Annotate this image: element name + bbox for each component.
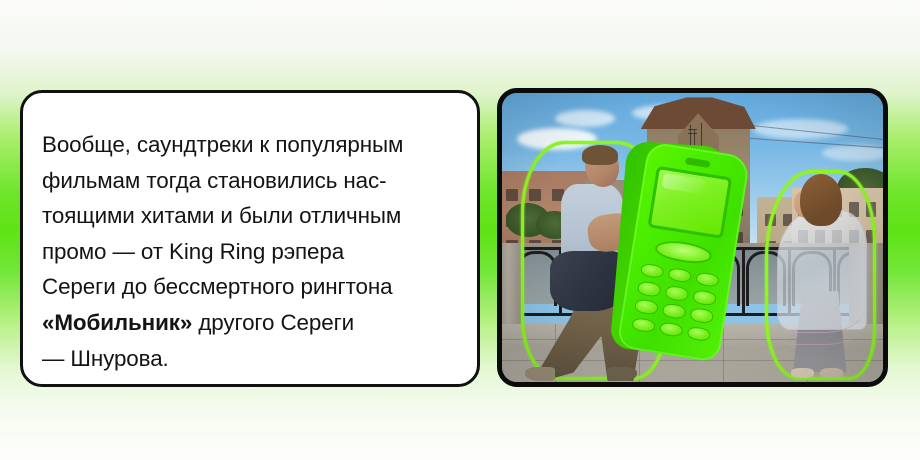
quote-text: Вообще, саундтреки к популярным фильмам … bbox=[42, 127, 465, 376]
quote-last-line: — Шнурова. bbox=[42, 346, 169, 371]
quote-text-after-bold: другого Сереги bbox=[192, 310, 354, 335]
phone-earpiece bbox=[684, 158, 709, 168]
screen-glare bbox=[661, 173, 705, 194]
phone-navigation-pad bbox=[653, 237, 713, 267]
photo-card bbox=[497, 88, 888, 387]
antenna-crossbar bbox=[688, 129, 697, 130]
phone-key bbox=[689, 307, 713, 324]
woman-sandal bbox=[791, 368, 814, 378]
photo-frame bbox=[502, 93, 883, 382]
cloud bbox=[753, 119, 848, 139]
phone-key bbox=[634, 299, 658, 316]
phone-key bbox=[664, 285, 688, 302]
phone-screen bbox=[647, 166, 732, 240]
man-shoe bbox=[525, 367, 555, 381]
phone-key bbox=[637, 280, 661, 297]
screenshot-canvas: Вообще, саундтреки к популярным фильмам … bbox=[0, 0, 920, 460]
phone-key bbox=[661, 303, 685, 320]
woman-sandal bbox=[820, 368, 843, 378]
man-shoe bbox=[607, 367, 637, 381]
phone-key bbox=[692, 289, 716, 306]
phone-key bbox=[640, 262, 664, 279]
photo-scene bbox=[502, 93, 883, 382]
antenna-crossbar bbox=[688, 133, 697, 134]
woman-hair bbox=[800, 174, 842, 226]
quote-text-part-1: Вообще, саундтреки к популярным фильмам … bbox=[42, 132, 403, 299]
man-hair bbox=[582, 145, 618, 165]
quote-bold-phrase: «Мобильник» bbox=[42, 310, 192, 335]
antenna bbox=[694, 129, 695, 145]
raincoat-fold bbox=[781, 299, 861, 345]
phone-key bbox=[659, 321, 683, 338]
railing-baluster bbox=[742, 247, 745, 317]
antenna bbox=[690, 125, 691, 147]
phone-key bbox=[631, 317, 655, 334]
phone-key bbox=[667, 267, 691, 284]
quote-card: Вообще, саундтреки к популярным фильмам … bbox=[20, 90, 480, 387]
phone-key bbox=[686, 325, 710, 342]
phone-keypad bbox=[631, 262, 719, 342]
stone-post bbox=[502, 243, 524, 327]
phone-key bbox=[695, 271, 719, 288]
person-woman bbox=[769, 174, 872, 376]
